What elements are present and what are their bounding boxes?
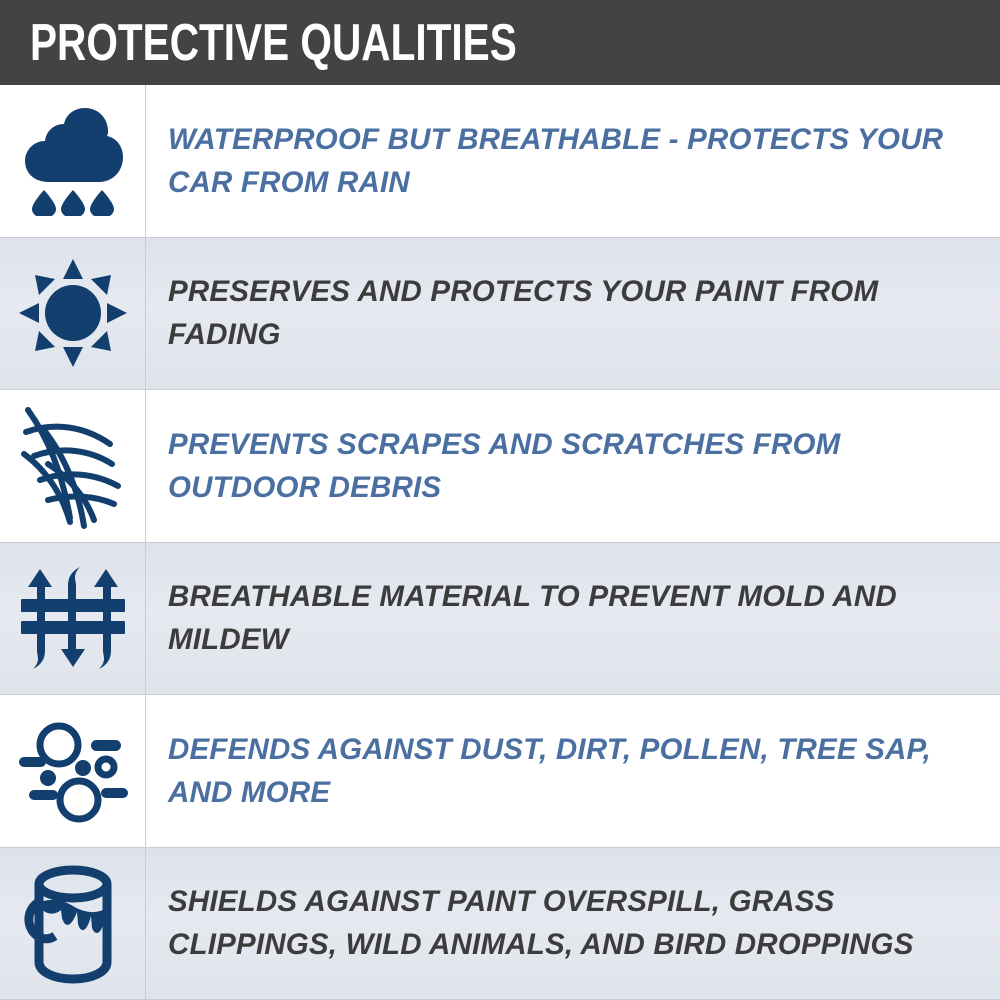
header-bar: PROTECTIVE QUALITIES [0, 0, 1000, 85]
sun-icon [19, 259, 127, 367]
feature-row-waterproof: WATERPROOF BUT BREATHABLE - PROTECTS YOU… [0, 85, 1000, 238]
feature-row-paint-shield: SHIELDS AGAINST PAINT OVERSPILL, GRASS C… [0, 848, 1000, 1000]
feature-text: DEFENDS AGAINST DUST, DIRT, POLLEN, TREE… [168, 728, 966, 814]
feature-row-uv-protection: PRESERVES AND PROTECTS YOUR PAINT FROM F… [0, 238, 1000, 391]
feature-text: PRESERVES AND PROTECTS YOUR PAINT FROM F… [168, 270, 966, 356]
rain-cloud-icon [19, 106, 127, 216]
feature-list: WATERPROOF BUT BREATHABLE - PROTECTS YOU… [0, 85, 1000, 1000]
text-cell: SHIELDS AGAINST PAINT OVERSPILL, GRASS C… [146, 848, 1000, 1000]
feature-text: WATERPROOF BUT BREATHABLE - PROTECTS YOU… [168, 118, 966, 204]
icon-cell [0, 238, 146, 390]
page-title: PROTECTIVE QUALITIES [30, 17, 517, 69]
feature-text: SHIELDS AGAINST PAINT OVERSPILL, GRASS C… [168, 880, 966, 966]
icon-cell [0, 543, 146, 695]
feature-text: BREATHABLE MATERIAL TO PREVENT MOLD AND … [168, 575, 966, 661]
protective-qualities-infographic: PROTECTIVE QUALITIES WATERP [0, 0, 1000, 1000]
text-cell: DEFENDS AGAINST DUST, DIRT, POLLEN, TREE… [146, 695, 1000, 847]
icon-cell [0, 695, 146, 847]
dust-particles-icon [17, 718, 129, 824]
feature-row-dust-defense: DEFENDS AGAINST DUST, DIRT, POLLEN, TREE… [0, 695, 1000, 848]
paint-can-icon [21, 862, 125, 984]
icon-cell [0, 848, 146, 1000]
scratches-icon [18, 402, 128, 530]
feature-text: PREVENTS SCRAPES AND SCRATCHES FROM OUTD… [168, 423, 966, 509]
icon-cell [0, 390, 146, 542]
breathable-airflow-icon [19, 559, 127, 677]
text-cell: WATERPROOF BUT BREATHABLE - PROTECTS YOU… [146, 85, 1000, 237]
icon-cell [0, 85, 146, 237]
text-cell: PREVENTS SCRAPES AND SCRATCHES FROM OUTD… [146, 390, 1000, 542]
text-cell: PRESERVES AND PROTECTS YOUR PAINT FROM F… [146, 238, 1000, 390]
feature-row-breathable: BREATHABLE MATERIAL TO PREVENT MOLD AND … [0, 543, 1000, 696]
feature-row-scratch-resistance: PREVENTS SCRAPES AND SCRATCHES FROM OUTD… [0, 390, 1000, 543]
text-cell: BREATHABLE MATERIAL TO PREVENT MOLD AND … [146, 543, 1000, 695]
